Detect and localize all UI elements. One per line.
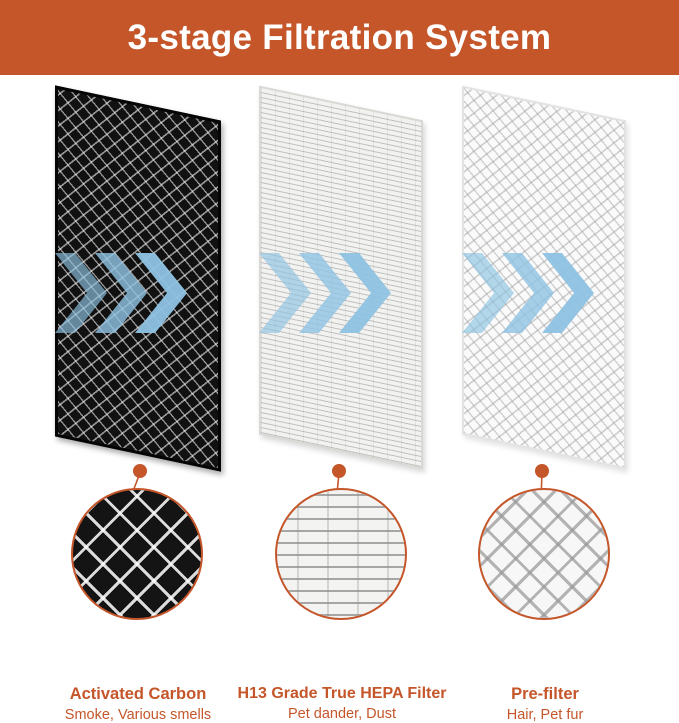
page-title: 3-stage Filtration System (128, 18, 552, 58)
stage-pre-filter: Pre-filter Hair, Pet fur (432, 75, 658, 657)
hepa-zoom-texture (275, 488, 407, 620)
caption-subtitle-activated-carbon: Smoke, Various smells (25, 707, 251, 723)
zoom-circle-pre-filter (478, 488, 610, 620)
zoom-circle-h13-hepa (275, 488, 407, 620)
carbon-zoom-texture (71, 488, 203, 620)
hepa-pleat-texture (261, 88, 421, 467)
zoom-circle-activated-carbon (71, 488, 203, 620)
caption-title-pre-filter: Pre-filter (432, 685, 658, 704)
caption-h13-hepa: H13 Grade True HEPA Filter Pet dander, D… (229, 685, 455, 722)
filter-panel-activated-carbon (55, 85, 221, 471)
prefilter-zoom-texture (478, 488, 610, 620)
stage-activated-carbon: Activated Carbon Smoke, Various smells (25, 75, 251, 657)
caption-pre-filter: Pre-filter Hair, Pet fur (432, 685, 658, 723)
filter-panel-h13-hepa (259, 86, 423, 470)
filter-panel-pre-filter (462, 86, 626, 470)
caption-activated-carbon: Activated Carbon Smoke, Various smells (25, 685, 251, 723)
callout-dot-icon (535, 464, 549, 478)
caption-subtitle-pre-filter: Hair, Pet fur (432, 707, 658, 723)
caption-title-activated-carbon: Activated Carbon (25, 685, 251, 704)
callout-dot-icon (332, 464, 346, 478)
caption-title-h13-hepa: H13 Grade True HEPA Filter (229, 685, 455, 703)
filtration-infographic: 3-stage Filtration System Activated Carb… (0, 0, 679, 657)
caption-subtitle-h13-hepa: Pet dander, Dust (229, 706, 455, 722)
prefilter-mesh-texture (464, 88, 624, 467)
callout-dot-icon (133, 464, 147, 478)
header-banner: 3-stage Filtration System (0, 0, 679, 75)
carbon-mesh-texture (58, 89, 218, 468)
stage-h13-hepa: H13 Grade True HEPA Filter Pet dander, D… (229, 75, 455, 657)
